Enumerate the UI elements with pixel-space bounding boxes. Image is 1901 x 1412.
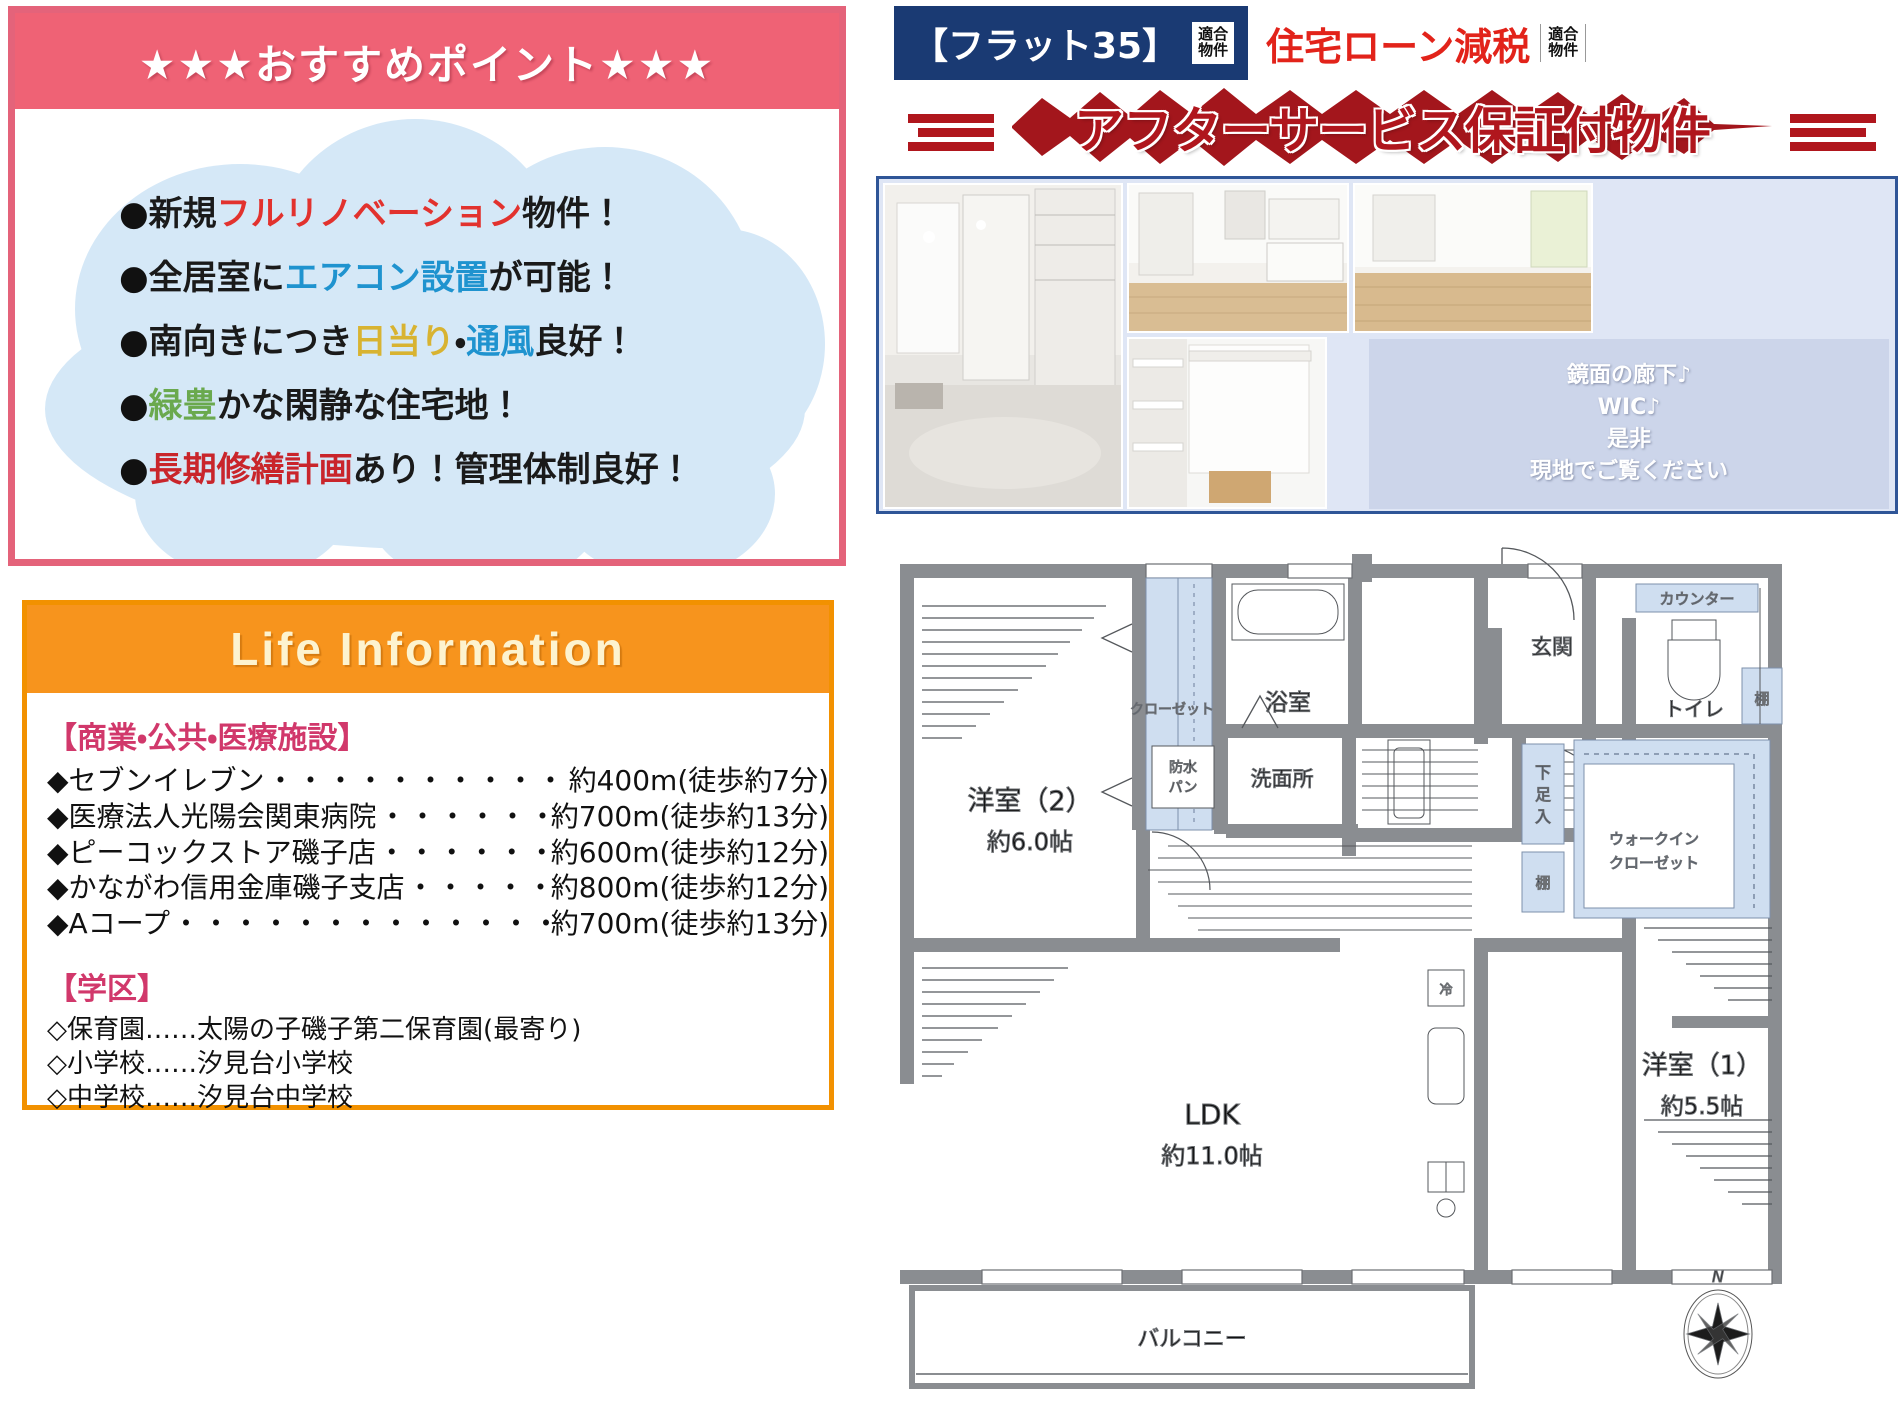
left-column: ★★★おすすめポイント★★★ ●新規フルリノベーション物件！●全居室にエアコン設… (0, 0, 862, 1412)
floor-plan: 洋室（2） 約6.0帖 クローゼット (882, 528, 1898, 1404)
hallway-photo[interactable] (883, 183, 1123, 509)
school-row-2: ◇中学校‥‥‥汐見台中学校 (47, 1082, 829, 1116)
note-line-3: 是非 (1607, 424, 1651, 456)
facility-name-0: ◆セブンイレブン (47, 763, 265, 799)
room-area-1: 約11.0帖 (1161, 1142, 1262, 1170)
bullet-icon: ● (119, 258, 149, 298)
label-wic-2: クローゼット (1609, 854, 1699, 872)
school-list: ◇保育園‥‥‥太陽の子磯子第二保育園(最寄り)◇小学校‥‥‥汐見台小学校◇中学校… (47, 1014, 829, 1115)
tax-reduction-badge: 住宅ローン減税 適合 物件 (1248, 6, 1586, 80)
point-segment-2-3: 通風 (466, 322, 534, 362)
life-information-panel: Life Information 【商業・公共・医療施設】 ◆セブンイレブン・・… (22, 600, 834, 1110)
tax-eligible-line2: 物件 (1548, 43, 1578, 59)
point-segment-0-1: フルリノベーション (217, 194, 522, 234)
recommended-point-0: ●新規フルリノベーション物件！ (119, 197, 839, 231)
bullet-icon: ● (119, 194, 149, 234)
recommended-points-title: ★★★おすすめポイント★★★ (139, 31, 716, 91)
recommended-point-1: ●全居室にエアコン設置が可能！ (119, 261, 839, 295)
bullet-icon: ● (119, 322, 149, 362)
bullet-icon: ● (119, 386, 149, 426)
facility-name-2: ◆ピーコックストア磯子店 (47, 835, 376, 871)
label-shelf: 棚 (1754, 690, 1769, 708)
life-information-body: 【商業・公共・医療施設】 ◆セブンイレブン・・・・・・・・・・・・・・・・・・・… (27, 693, 829, 1105)
label-shoe-box-2: 足 (1535, 785, 1551, 804)
point-segment-2-1: 日当り (353, 322, 455, 362)
facility-name-1: ◆医療法人光陽会関東病院 (47, 799, 377, 835)
tax-reduction-label: 住宅ローン減税 (1266, 16, 1530, 71)
point-segment-3-1: かな閑静な住宅地！ (217, 386, 523, 426)
svg-text:冷: 冷 (1439, 983, 1452, 998)
label-waterproof-pan-2: パン (1169, 780, 1198, 796)
point-segment-3-0: 緑豊 (149, 386, 217, 426)
recommended-points-header: ★★★おすすめポイント★★★ (15, 13, 839, 109)
school-section-title: 【学区】 (47, 964, 829, 1008)
room-label-0: 洋室（2） (967, 786, 1092, 817)
flat35-badge: 【フラット35】 適合 物件 (894, 6, 1248, 80)
right-column: 【フラット35】 適合 物件 住宅ローン減税 適合 物件 (872, 0, 1901, 1412)
point-segment-1-2: が可能！ (489, 258, 625, 298)
note-line-4: 現地でご覧ください (1530, 456, 1728, 488)
facility-distance-3: 約800m(徒歩約12分) (551, 870, 829, 906)
label-waterproof-pan-1: 防水 (1169, 760, 1197, 776)
point-segment-1-0: 全居室に (149, 258, 285, 298)
note-line-1: 鏡面の廊下♪ (1567, 360, 1691, 392)
facility-name-3: ◆かながわ信用金庫磯子支店 (47, 870, 405, 906)
label-toilet: トイレ (1664, 697, 1724, 721)
label-shoe-box-3: 入 (1535, 807, 1551, 826)
label-balcony: バルコニー (1137, 1327, 1247, 1352)
facility-row: ◆ピーコックストア磯子店・・・・・・・・・・・・・・・・・・・・・・・・・・・・… (47, 835, 829, 871)
facility-distance-2: 約600m(徒歩約12分) (551, 835, 829, 871)
room-label-1: LDK (1184, 1098, 1240, 1131)
point-segment-2-2: ・ (455, 322, 467, 362)
label-wic-1: ウォークイン (1609, 830, 1699, 848)
facility-distance-1: 約700m(徒歩約13分) (551, 799, 829, 835)
point-segment-0-0: 新規 (149, 194, 217, 234)
flat35-eligible-badge: 適合 物件 (1192, 22, 1234, 64)
facility-distance-4: 約700m(徒歩約13分) (551, 906, 829, 942)
room-area-0: 約6.0帖 (987, 828, 1073, 856)
tax-eligible-badge: 適合 物件 (1540, 24, 1586, 62)
label-entrance: 玄関 (1531, 635, 1573, 659)
room-label-2: 洋室（1） (1642, 1051, 1763, 1081)
recommended-point-2: ●南向きにつき日当り・通風良好！ (119, 325, 839, 359)
flat35-label: 【フラット35】 (912, 17, 1178, 69)
facilities-list: ◆セブンイレブン・・・・・・・・・・・・・・・・・・・・・・・・・・・・・・・・… (47, 763, 829, 942)
facilities-section-title: 【商業・公共・医療施設】 (47, 713, 829, 757)
flyer-page: ★★★おすすめポイント★★★ ●新規フルリノベーション物件！●全居室にエアコン設… (0, 0, 1901, 1412)
collage-note: 鏡面の廊下♪ WIC♪ 是非 現地でご覧ください (1369, 339, 1889, 509)
recommended-points-panel: ★★★おすすめポイント★★★ ●新規フルリノベーション物件！●全居室にエアコン設… (8, 6, 846, 566)
label-shoe-box-1: 下 (1535, 763, 1551, 782)
point-segment-1-1: エアコン設置 (285, 258, 489, 298)
note-line-2: WIC♪ (1598, 392, 1661, 424)
point-segment-0-2: 物件！ (522, 194, 624, 234)
label-bath: 浴室 (1265, 690, 1311, 716)
recommended-point-3: ●緑豊かな閑静な住宅地！ (119, 389, 839, 423)
facility-dots: ・・・・・・・・・・・・・・・・・・・・・・・・・・・・・・・・・・・・・・・・ (170, 906, 551, 942)
label-closet: クローゼット (1130, 702, 1214, 718)
point-segment-2-4: 良好！ (534, 322, 636, 362)
bullet-icon: ● (119, 450, 149, 490)
photo-collage: 鏡面の廊下♪ WIC♪ 是非 現地でご覧ください (876, 176, 1898, 514)
after-service-banner: アフターサービス保証付物件 (892, 84, 1892, 170)
label-north: N (1712, 1267, 1724, 1286)
recommended-point-4: ●長期修繕計画あり！管理体制良好！ (119, 453, 839, 487)
point-segment-2-0: 南向きにつき (149, 322, 353, 362)
facility-dots: ・・・・・・・・・・・・・・・・・・・・・・・・・・・・・・・・・・・・・・・・ (265, 763, 569, 799)
point-segment-4-1: あり！管理体制良好！ (353, 450, 693, 490)
living-room-photo[interactable] (1353, 183, 1593, 333)
room-area-2: 約5.5帖 (1661, 1094, 1744, 1120)
school-row-0: ◇保育園‥‥‥太陽の子磯子第二保育園(最寄り) (47, 1014, 829, 1048)
label-washroom: 洗面所 (1251, 767, 1314, 791)
life-information-title: Life Information (230, 622, 626, 676)
school-row-1: ◇小学校‥‥‥汐見台小学校 (47, 1048, 829, 1082)
label-shelf-2: 棚 (1535, 874, 1550, 892)
facility-row: ◆セブンイレブン・・・・・・・・・・・・・・・・・・・・・・・・・・・・・・・・… (47, 763, 829, 799)
facility-row: ◆医療法人光陽会関東病院・・・・・・・・・・・・・・・・・・・・・・・・・・・・… (47, 799, 829, 835)
facility-dots: ・・・・・・・・・・・・・・・・・・・・・・・・・・・・・・・・・・・・・・・・ (405, 870, 551, 906)
facility-name-4: ◆Aコープ (47, 906, 170, 942)
kitchen-photo[interactable] (1127, 183, 1349, 333)
point-segment-4-0: 長期修繕計画 (149, 450, 353, 490)
facility-row: ◆かながわ信用金庫磯子支店・・・・・・・・・・・・・・・・・・・・・・・・・・・… (47, 870, 829, 906)
walk-in-closet-photo[interactable] (1127, 337, 1327, 509)
recommended-points-list: ●新規フルリノベーション物件！●全居室にエアコン設置が可能！●南向きにつき日当り… (15, 109, 839, 559)
after-service-text: アフターサービス保証付物件 (892, 84, 1892, 170)
facility-dots: ・・・・・・・・・・・・・・・・・・・・・・・・・・・・・・・・・・・・・・・・ (377, 799, 551, 835)
life-information-header: Life Information (27, 605, 829, 693)
facility-distance-0: 約400m(徒歩約7分) (569, 763, 829, 799)
flat35-eligible-line2: 物件 (1198, 43, 1228, 59)
facility-dots: ・・・・・・・・・・・・・・・・・・・・・・・・・・・・・・・・・・・・・・・・ (376, 835, 551, 871)
loan-badges-row: 【フラット35】 適合 物件 住宅ローン減税 適合 物件 (894, 6, 1884, 80)
label-counter: カウンター (1659, 590, 1734, 608)
facility-row: ◆Aコープ・・・・・・・・・・・・・・・・・・・・・・・・・・・・・・・・・・・… (47, 906, 829, 942)
